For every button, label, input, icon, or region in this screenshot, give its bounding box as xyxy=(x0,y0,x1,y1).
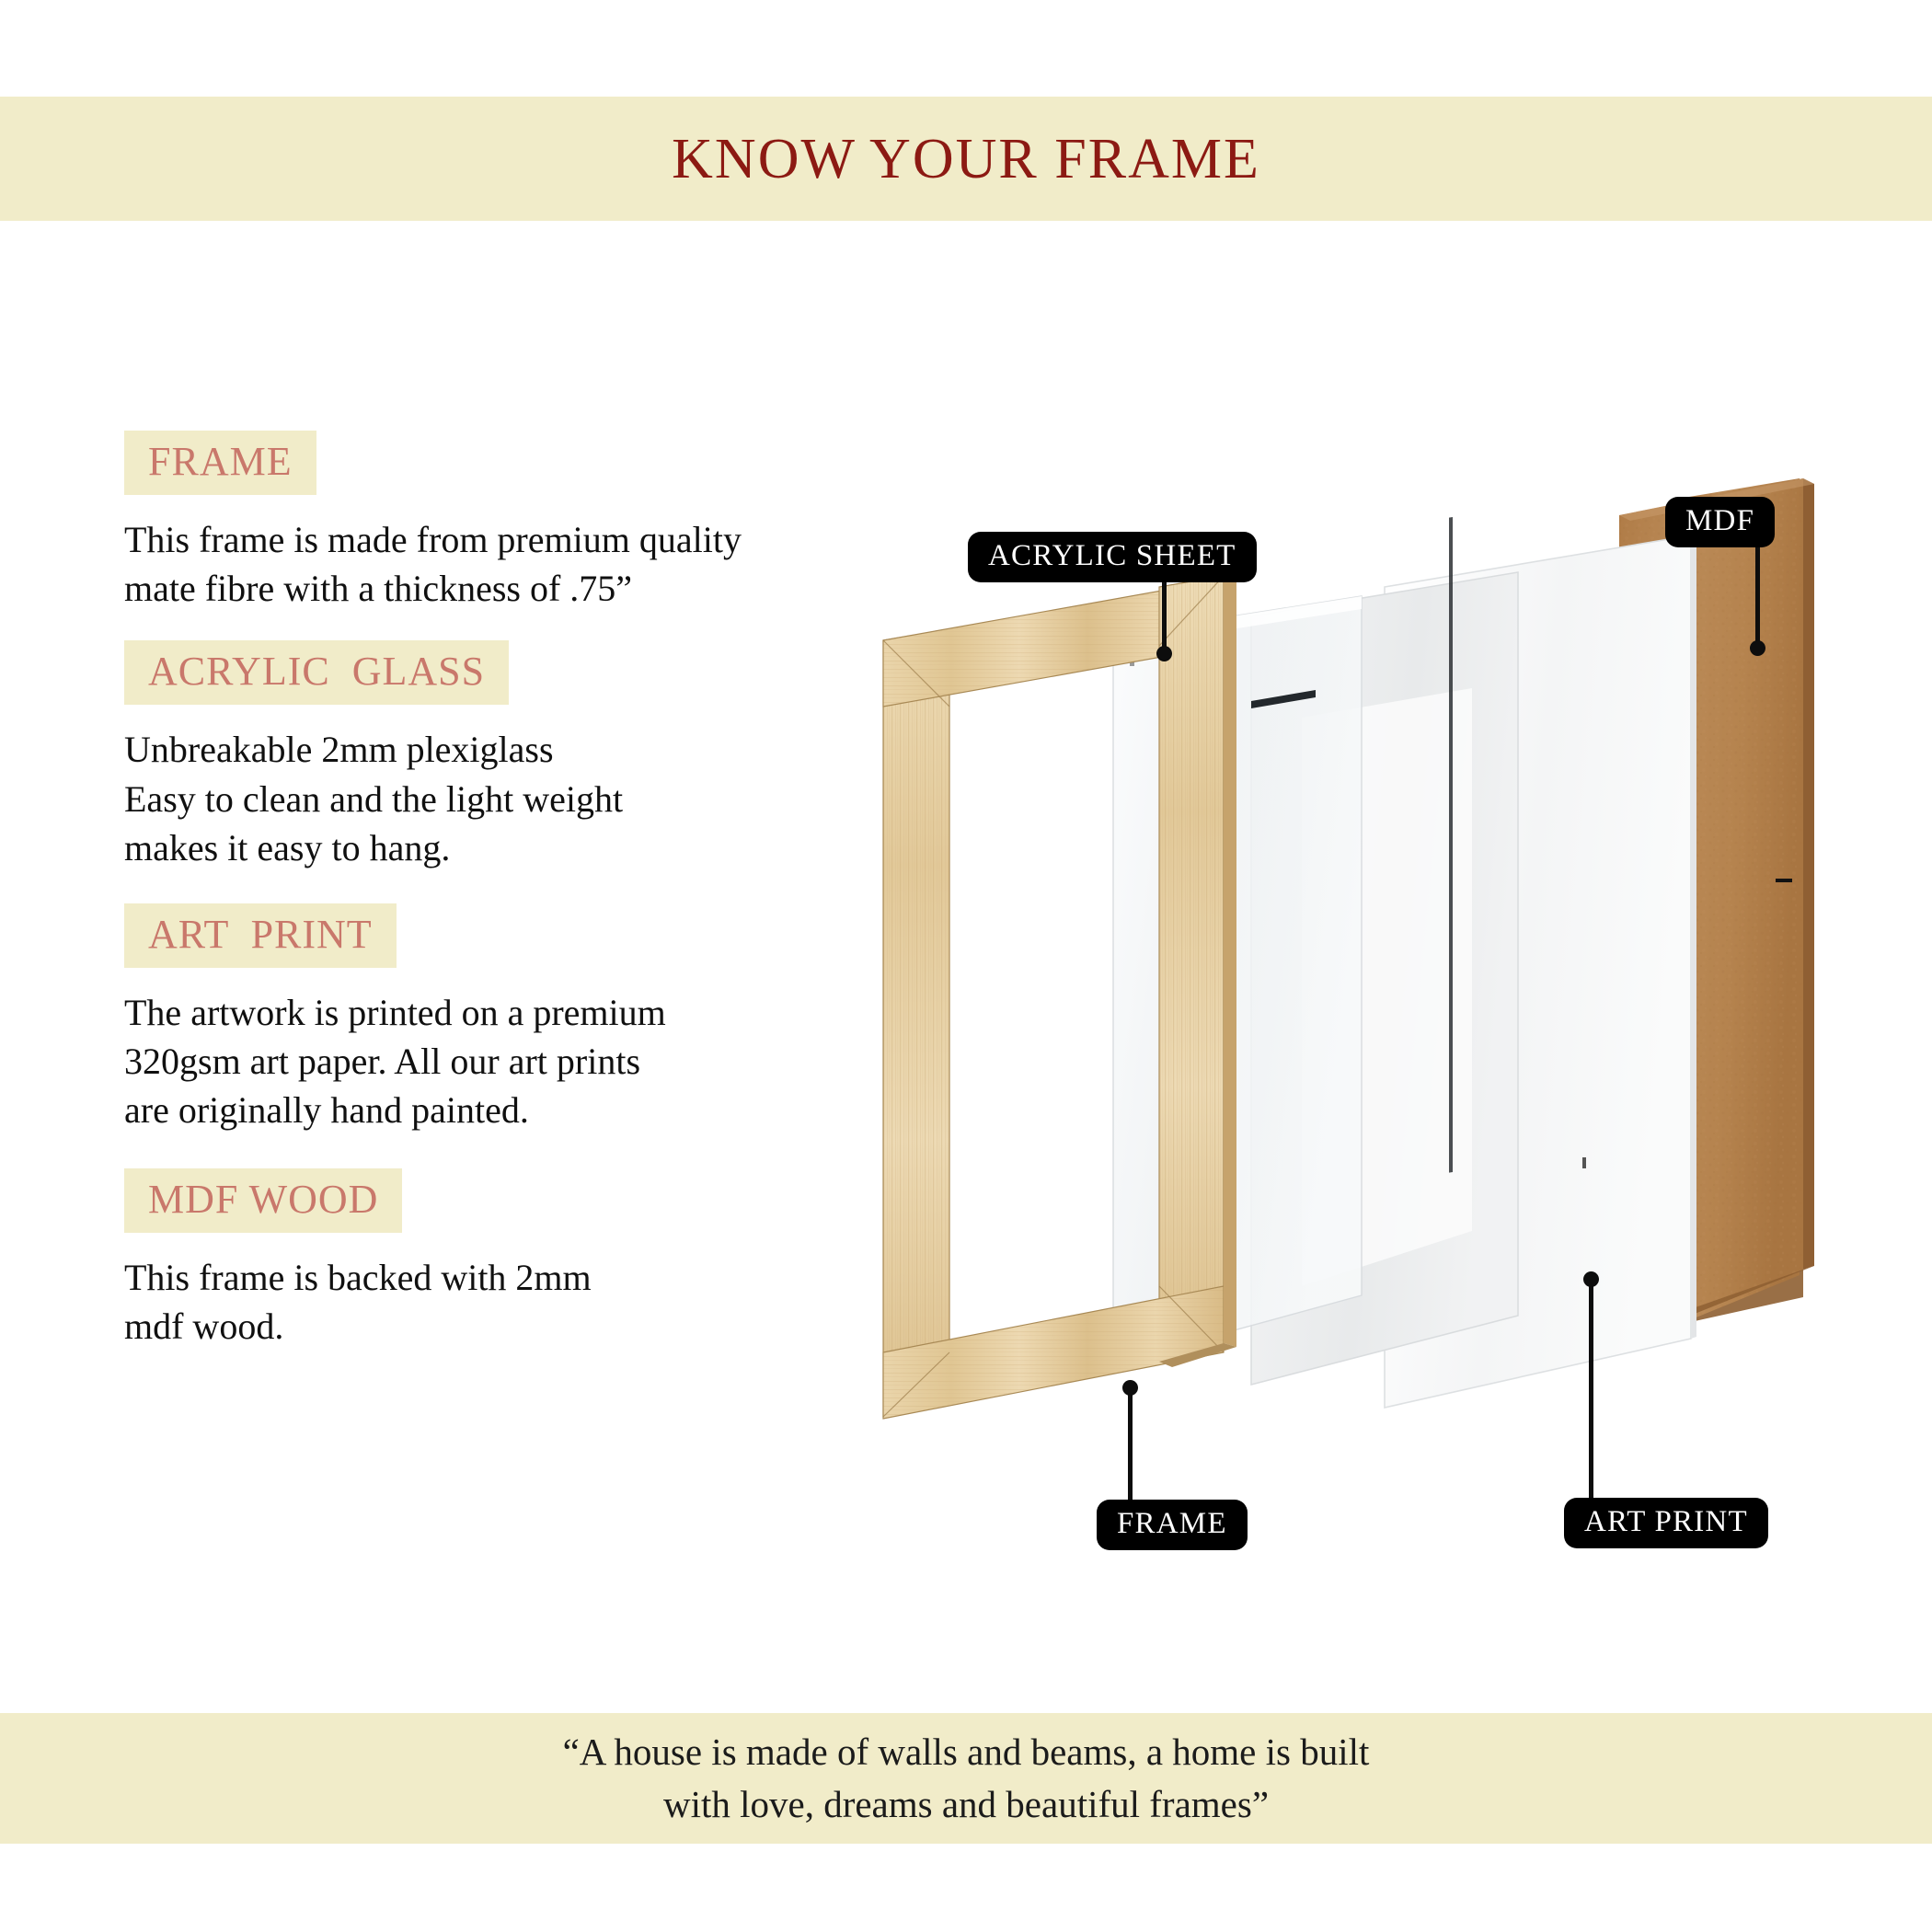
section-body-frame: This frame is made from premium quality … xyxy=(124,515,897,613)
leader-dot-art-print xyxy=(1583,1271,1599,1287)
section-heading-mdf-wood: MDF WOOD xyxy=(124,1168,402,1233)
leader-line-art-print xyxy=(1589,1279,1593,1500)
leader-line-mdf xyxy=(1755,534,1760,646)
callout-art-print: ART PRINT xyxy=(1564,1498,1768,1548)
footer-quote-line-2: with love, dreams and beautiful frames” xyxy=(563,1778,1370,1831)
layer-acrylic-sheet xyxy=(1113,596,1362,1363)
section-heading-frame: FRAME xyxy=(124,431,316,495)
leader-dot-acrylic-sheet xyxy=(1156,646,1172,661)
info-section-art-print: ART PRINT The artwork is printed on a pr… xyxy=(124,903,897,1135)
info-column: FRAME This frame is made from premium qu… xyxy=(124,431,897,1373)
section-body-mdf-wood: This frame is backed with 2mm mdf wood. xyxy=(124,1253,897,1351)
page-title: KNOW YOUR FRAME xyxy=(672,131,1260,188)
info-section-acrylic-glass: ACRYLIC GLASS Unbreakable 2mm plexiglass… xyxy=(124,640,897,872)
section-heading-acrylic-glass: ACRYLIC GLASS xyxy=(124,640,509,705)
layer-wood-frame xyxy=(883,576,1236,1419)
footer-quote: “A house is made of walls and beams, a h… xyxy=(563,1726,1370,1830)
footer-band: “A house is made of walls and beams, a h… xyxy=(0,1713,1932,1844)
leader-dot-mdf xyxy=(1750,640,1765,656)
leader-line-frame xyxy=(1128,1387,1133,1502)
footer-quote-line-1: “A house is made of walls and beams, a h… xyxy=(563,1726,1370,1778)
leader-dot-frame xyxy=(1122,1380,1138,1396)
callout-acrylic-sheet: ACRYLIC SHEET xyxy=(968,532,1257,582)
section-heading-art-print: ART PRINT xyxy=(124,903,397,968)
info-section-mdf-wood: MDF WOOD This frame is backed with 2mm m… xyxy=(124,1168,897,1351)
leader-line-acrylic-sheet xyxy=(1162,570,1167,653)
callout-frame: FRAME xyxy=(1097,1500,1248,1550)
header-band: KNOW YOUR FRAME xyxy=(0,97,1932,221)
section-body-acrylic-glass: Unbreakable 2mm plexiglass Easy to clean… xyxy=(124,725,897,872)
section-body-art-print: The artwork is printed on a premium 320g… xyxy=(124,988,897,1135)
mdf-edge-tick xyxy=(1776,879,1792,882)
info-section-frame: FRAME This frame is made from premium qu… xyxy=(124,431,897,613)
callout-mdf: MDF xyxy=(1665,497,1775,547)
